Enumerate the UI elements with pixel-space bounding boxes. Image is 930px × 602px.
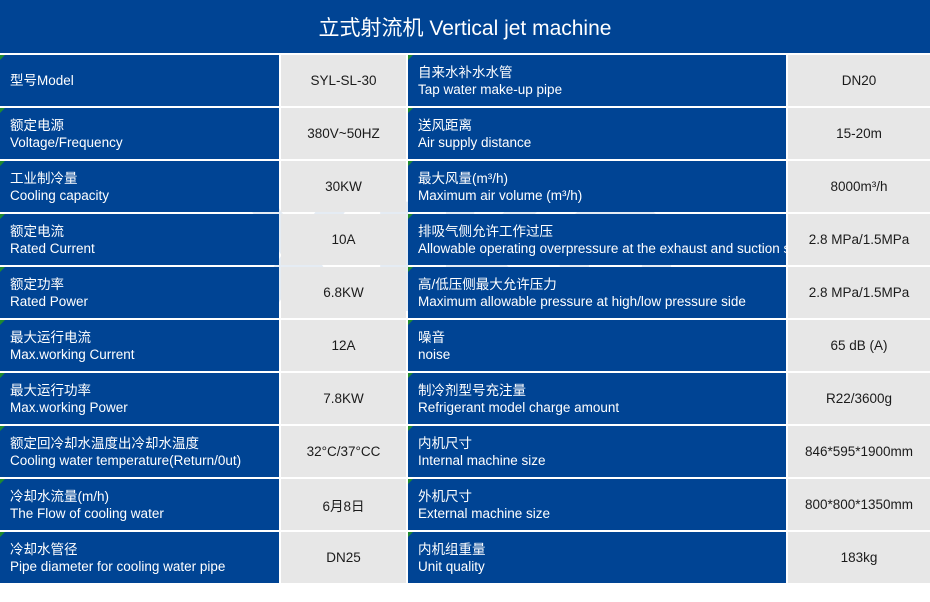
table-row: 工业制冷量Cooling capacity30KW最大风量(m³/h)Maxim…: [0, 161, 930, 212]
label-en: Cooling water temperature(Return/0ut): [10, 452, 279, 469]
value-text: DN25: [326, 550, 361, 565]
row-8-right-label: 内机尺寸Internal machine size: [408, 426, 786, 477]
label-zh: 工业制冷量: [10, 170, 279, 187]
label-zh: 型号Model: [10, 55, 279, 106]
label-zh: 内机尺寸: [418, 435, 786, 452]
label-en: Rated Current: [10, 240, 279, 257]
comment-marker-icon: [0, 267, 5, 272]
label-zh: 冷却水流量(m/h): [10, 488, 279, 505]
row-5-left-value: 6.8KW: [281, 267, 406, 318]
label-en: Max.working Power: [10, 399, 279, 416]
label-zh: 额定电源: [10, 117, 279, 134]
row-5-left-label: 额定功率Rated Power: [0, 267, 279, 318]
label-en: Rated Power: [10, 293, 279, 310]
row-5-right-label: 高/低压侧最大允许压力Maximum allowable pressure at…: [408, 267, 786, 318]
row-4-right-label: 排吸气侧允许工作过压Allowable operating overpressu…: [408, 214, 786, 265]
value-text: DN20: [842, 73, 877, 88]
label-en: Max.working Current: [10, 346, 279, 363]
value-text: 800*800*1350mm: [805, 497, 913, 512]
row-2-right-label: 送风距离Air supply distance: [408, 108, 786, 159]
row-7-left-value: 7.8KW: [281, 373, 406, 424]
comment-marker-icon: [0, 55, 5, 60]
table-row: 额定电流Rated Current10A排吸气侧允许工作过压Allowable …: [0, 214, 930, 265]
row-8-left-value: 32°C/37°CC: [281, 426, 406, 477]
row-1-right-label: 自来水补水水管Tap water make-up pipe: [408, 55, 786, 106]
value-text: 2.8 MPa/1.5MPa: [809, 232, 910, 247]
comment-marker-icon: [0, 161, 5, 166]
row-10-right-value: 183kg: [788, 532, 930, 583]
label-en: External machine size: [418, 505, 786, 522]
comment-marker-icon: [408, 161, 413, 166]
label-en: Cooling capacity: [10, 187, 279, 204]
table-row: 冷却水管径Pipe diameter for cooling water pip…: [0, 532, 930, 583]
label-en: Voltage/Frequency: [10, 134, 279, 151]
value-text: 2.8 MPa/1.5MPa: [809, 285, 910, 300]
comment-marker-icon: [0, 426, 5, 431]
value-text: 7.8KW: [323, 391, 364, 406]
value-text: SYL-SL-30: [310, 73, 376, 88]
row-9-left-value: 6月8日: [281, 479, 406, 530]
value-text: 6月8日: [322, 495, 364, 515]
row-1-left-value: SYL-SL-30: [281, 55, 406, 106]
row-6-left-value: 12A: [281, 320, 406, 371]
comment-marker-icon: [408, 55, 413, 60]
label-en: Internal machine size: [418, 452, 786, 469]
label-en: Air supply distance: [418, 134, 786, 151]
label-zh: 额定回冷却水温度出冷却水温度: [10, 435, 279, 452]
value-text: 6.8KW: [323, 285, 364, 300]
page-title-text: 立式射流机 Vertical jet machine: [319, 12, 612, 42]
table-row: 型号ModelSYL-SL-30自来水补水水管Tap water make-up…: [0, 55, 930, 106]
label-zh: 最大风量(m³/h): [418, 170, 786, 187]
row-10-left-label: 冷却水管径Pipe diameter for cooling water pip…: [0, 532, 279, 583]
row-9-right-value: 800*800*1350mm: [788, 479, 930, 530]
row-1-right-value: DN20: [788, 55, 930, 106]
row-10-right-label: 内机组重量Unit quality: [408, 532, 786, 583]
label-zh: 内机组重量: [418, 541, 786, 558]
label-zh: 制冷剂型号充注量: [418, 382, 786, 399]
row-2-right-value: 15-20m: [788, 108, 930, 159]
comment-marker-icon: [0, 532, 5, 537]
label-en: Refrigerant model charge amount: [418, 399, 786, 416]
value-text: 30KW: [325, 179, 362, 194]
row-6-right-label: 噪音noise: [408, 320, 786, 371]
table-row: 冷却水流量(m/h)The Flow of cooling water6月8日外…: [0, 479, 930, 530]
table-row: 额定功率Rated Power6.8KW高/低压侧最大允许压力Maximum a…: [0, 267, 930, 318]
label-zh: 外机尺寸: [418, 488, 786, 505]
label-zh: 高/低压侧最大允许压力: [418, 276, 786, 293]
row-7-left-label: 最大运行功率Max.working Power: [0, 373, 279, 424]
label-en: Maximum allowable pressure at high/low p…: [418, 293, 786, 310]
comment-marker-icon: [408, 267, 413, 272]
label-zh: 额定电流: [10, 223, 279, 240]
row-8-left-label: 额定回冷却水温度出冷却水温度Cooling water temperature(…: [0, 426, 279, 477]
row-4-right-value: 2.8 MPa/1.5MPa: [788, 214, 930, 265]
label-en: Tap water make-up pipe: [418, 81, 786, 98]
page-title: 立式射流机 Vertical jet machine: [0, 0, 930, 53]
spec-sheet: XIKO 立式射流机 Vertical jet machine 型号ModelS…: [0, 0, 930, 602]
comment-marker-icon: [408, 479, 413, 484]
comment-marker-icon: [408, 214, 413, 219]
value-text: 8000m³/h: [830, 179, 887, 194]
row-9-left-label: 冷却水流量(m/h)The Flow of cooling water: [0, 479, 279, 530]
label-zh: 排吸气侧允许工作过压: [418, 223, 786, 240]
value-text: 32°C/37°CC: [307, 444, 381, 459]
row-4-left-value: 10A: [281, 214, 406, 265]
row-3-right-value: 8000m³/h: [788, 161, 930, 212]
row-9-right-label: 外机尺寸External machine size: [408, 479, 786, 530]
row-7-right-label: 制冷剂型号充注量Refrigerant model charge amount: [408, 373, 786, 424]
row-1-left-label: 型号Model: [0, 55, 279, 106]
row-4-left-label: 额定电流Rated Current: [0, 214, 279, 265]
specification-table: 型号ModelSYL-SL-30自来水补水水管Tap water make-up…: [0, 55, 930, 585]
label-en: The Flow of cooling water: [10, 505, 279, 522]
comment-marker-icon: [408, 108, 413, 113]
comment-marker-icon: [0, 373, 5, 378]
comment-marker-icon: [0, 214, 5, 219]
label-zh: 冷却水管径: [10, 541, 279, 558]
label-zh: 噪音: [418, 329, 786, 346]
table-row: 额定电源Voltage/Frequency380V~50HZ送风距离Air su…: [0, 108, 930, 159]
row-2-left-label: 额定电源Voltage/Frequency: [0, 108, 279, 159]
label-en: Unit quality: [418, 558, 786, 575]
comment-marker-icon: [0, 479, 5, 484]
value-text: 380V~50HZ: [307, 126, 379, 141]
row-3-right-label: 最大风量(m³/h)Maximum air volume (m³/h): [408, 161, 786, 212]
row-7-right-value: R22/3600g: [788, 373, 930, 424]
value-text: 183kg: [841, 550, 878, 565]
table-row: 最大运行功率Max.working Power7.8KW制冷剂型号充注量Refr…: [0, 373, 930, 424]
row-8-right-value: 846*595*1900mm: [788, 426, 930, 477]
label-en: Maximum air volume (m³/h): [418, 187, 786, 204]
label-zh: 额定功率: [10, 276, 279, 293]
row-3-left-value: 30KW: [281, 161, 406, 212]
row-10-left-value: DN25: [281, 532, 406, 583]
row-5-right-value: 2.8 MPa/1.5MPa: [788, 267, 930, 318]
comment-marker-icon: [0, 108, 5, 113]
comment-marker-icon: [0, 320, 5, 325]
value-text: 846*595*1900mm: [805, 444, 913, 459]
comment-marker-icon: [408, 532, 413, 537]
label-en: Pipe diameter for cooling water pipe: [10, 558, 279, 575]
value-text: 15-20m: [836, 126, 882, 141]
table-row: 最大运行电流Max.working Current12A噪音noise65 dB…: [0, 320, 930, 371]
row-6-left-label: 最大运行电流Max.working Current: [0, 320, 279, 371]
comment-marker-icon: [408, 426, 413, 431]
row-6-right-value: 65 dB (A): [788, 320, 930, 371]
comment-marker-icon: [408, 373, 413, 378]
value-text: R22/3600g: [826, 391, 892, 406]
label-zh: 最大运行功率: [10, 382, 279, 399]
label-en: noise: [418, 346, 786, 363]
value-text: 10A: [331, 232, 355, 247]
label-zh: 送风距离: [418, 117, 786, 134]
table-row: 额定回冷却水温度出冷却水温度Cooling water temperature(…: [0, 426, 930, 477]
row-3-left-label: 工业制冷量Cooling capacity: [0, 161, 279, 212]
row-2-left-value: 380V~50HZ: [281, 108, 406, 159]
value-text: 65 dB (A): [830, 338, 887, 353]
value-text: 12A: [331, 338, 355, 353]
comment-marker-icon: [408, 320, 413, 325]
label-zh: 最大运行电流: [10, 329, 279, 346]
label-zh: 自来水补水水管: [418, 64, 786, 81]
